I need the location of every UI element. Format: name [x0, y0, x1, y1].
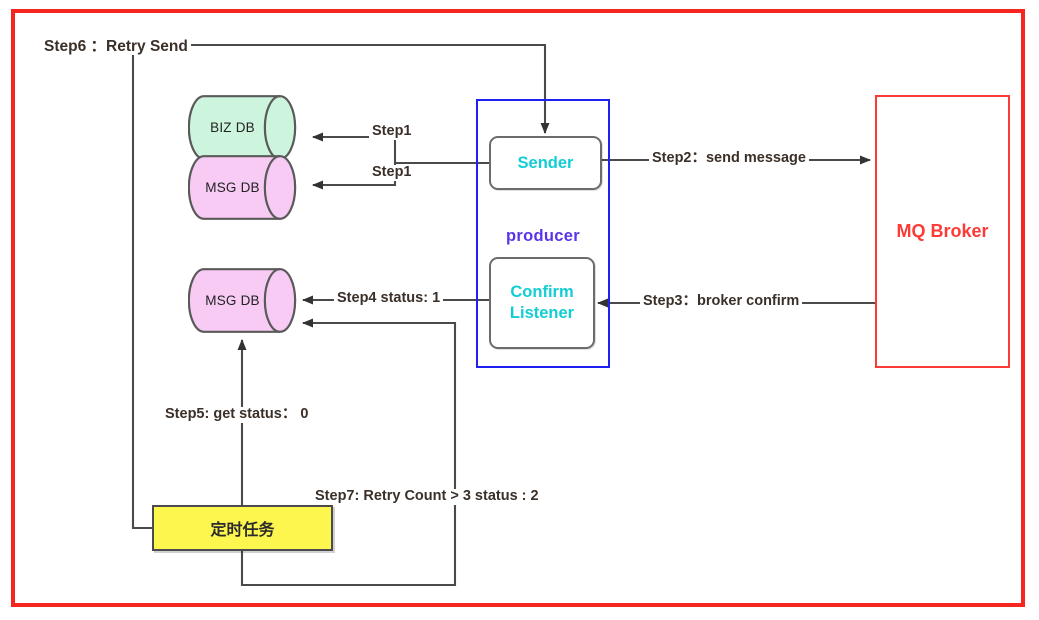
node-scheduled-task[interactable]: 定时任务	[152, 505, 333, 551]
biz-db-label: BIZ DB	[188, 95, 303, 160]
node-mq-broker[interactable]: MQ Broker	[875, 95, 1010, 368]
confirm-listener-label-line2: Listener	[510, 303, 574, 324]
edge-label-step5: Step5: get status： 0	[162, 407, 311, 423]
mq-broker-label: MQ Broker	[896, 221, 988, 242]
msg-db-bottom-label: MSG DB	[188, 268, 303, 333]
edge-label-step7: Step7: Retry Count > 3 status : 2	[312, 489, 542, 505]
edge-label-step1-biz: Step1	[369, 124, 415, 140]
edge-label-step1-msg: Step1	[369, 165, 415, 181]
edge-label-step3: Step3：broker confirm	[640, 294, 802, 310]
node-confirm-listener[interactable]: Confirm Listener	[489, 257, 595, 349]
node-msg-db-bottom[interactable]: MSG DB	[188, 268, 303, 333]
edge-label-step4: Step4 status: 1	[334, 291, 443, 307]
confirm-listener-label-line1: Confirm	[510, 282, 573, 303]
msg-db-top-label: MSG DB	[188, 155, 303, 220]
node-sender[interactable]: Sender	[489, 136, 602, 190]
scheduled-task-label: 定时任务	[210, 516, 274, 540]
sender-label: Sender	[518, 153, 574, 174]
node-biz-db[interactable]: BIZ DB	[188, 95, 303, 160]
edge-label-step2: Step2：send message	[649, 151, 809, 167]
node-msg-db-top[interactable]: MSG DB	[188, 155, 303, 220]
diagram-canvas: BIZ DB MSG DB MSG DB producer Sender Con…	[0, 0, 1039, 620]
producer-label: producer	[478, 227, 608, 246]
edge-label-step6: Step6 ：Retry Send	[41, 38, 191, 55]
